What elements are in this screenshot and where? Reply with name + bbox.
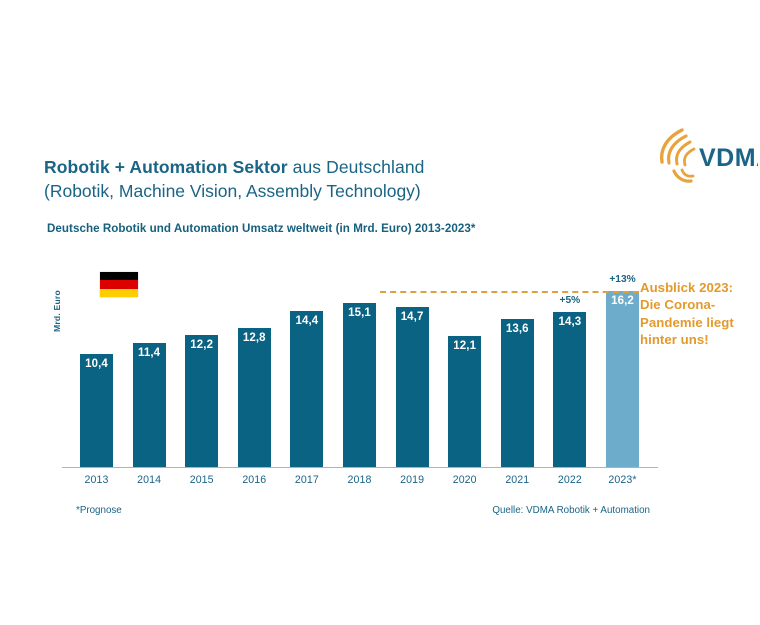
bar-2015[interactable]: 12,22015 (185, 335, 218, 467)
bar-rect (238, 328, 271, 467)
bar-rect (606, 291, 639, 467)
outlook-callout: Ausblick 2023: Die Corona- Pandemie lieg… (640, 279, 760, 349)
bar-value-label: 14,7 (396, 311, 429, 323)
reference-line (380, 291, 639, 293)
bar-value-label: 12,2 (185, 339, 218, 351)
x-tick-2023: 2023* (596, 474, 649, 486)
bar-value-label: 12,8 (238, 332, 271, 344)
bar-value-label: 16,2 (606, 295, 639, 307)
x-tick-2021: 2021 (491, 474, 544, 486)
callout-line-1: Ausblick 2023: (640, 279, 760, 296)
footnote: *Prognose (76, 505, 122, 516)
bar-value-label: 10,4 (80, 358, 113, 370)
x-tick-2014: 2014 (123, 474, 176, 486)
x-axis-line (62, 467, 658, 468)
bar-2014[interactable]: 11,42014 (133, 343, 166, 467)
bar-2019[interactable]: 14,72019 (396, 307, 429, 467)
bar-value-label: 14,4 (290, 315, 323, 327)
slide-canvas: VDMA Robotik + Automation Sektor aus Deu… (0, 0, 760, 625)
bar-rect (553, 312, 586, 467)
bar-rect (133, 343, 166, 467)
bar-2018[interactable]: 15,12018 (343, 303, 376, 467)
x-tick-2019: 2019 (386, 474, 439, 486)
bar-value-label: 14,3 (553, 316, 586, 328)
flag-stripe-red (100, 280, 138, 288)
x-tick-2013: 2013 (70, 474, 123, 486)
bar-2017[interactable]: 14,42017 (290, 311, 323, 467)
bar-2013[interactable]: 10,42013 (80, 354, 113, 467)
bar-rect (80, 354, 113, 467)
bar-2016[interactable]: 12,82016 (238, 328, 271, 467)
callout-line-4: hinter uns! (640, 331, 760, 348)
bar-2023[interactable]: 16,2+13%2023* (606, 291, 639, 467)
bar-rect (290, 311, 323, 467)
bar-value-label: 12,1 (448, 340, 481, 352)
x-tick-2018: 2018 (333, 474, 386, 486)
bar-rect (448, 336, 481, 467)
source-note: Quelle: VDMA Robotik + Automation (492, 505, 650, 516)
bar-value-label: 13,6 (501, 323, 534, 335)
callout-line-3: Pandemie liegt (640, 314, 760, 331)
bar-rect (501, 319, 534, 467)
x-tick-2022: 2022 (543, 474, 596, 486)
bar-2022[interactable]: 14,3+5%2022 (553, 312, 586, 467)
bar-2021[interactable]: 13,62021 (501, 319, 534, 467)
bar-rect (343, 303, 376, 467)
bar-value-label: 11,4 (133, 347, 166, 359)
bar-rect (185, 335, 218, 467)
x-tick-2016: 2016 (228, 474, 281, 486)
bar-growth-label: +5% (546, 295, 593, 306)
bar-rect (396, 307, 429, 467)
german-flag (100, 272, 138, 297)
bar-value-label: 15,1 (343, 307, 376, 319)
flag-stripe-black (100, 272, 138, 280)
x-tick-2017: 2017 (280, 474, 333, 486)
y-axis-label: Mrd. Euro (52, 290, 62, 332)
x-tick-2020: 2020 (438, 474, 491, 486)
bar-2020[interactable]: 12,12020 (448, 336, 481, 467)
x-tick-2015: 2015 (175, 474, 228, 486)
bar-growth-label: +13% (599, 274, 646, 285)
callout-line-2: Die Corona- (640, 296, 760, 313)
flag-stripe-gold (100, 289, 138, 297)
